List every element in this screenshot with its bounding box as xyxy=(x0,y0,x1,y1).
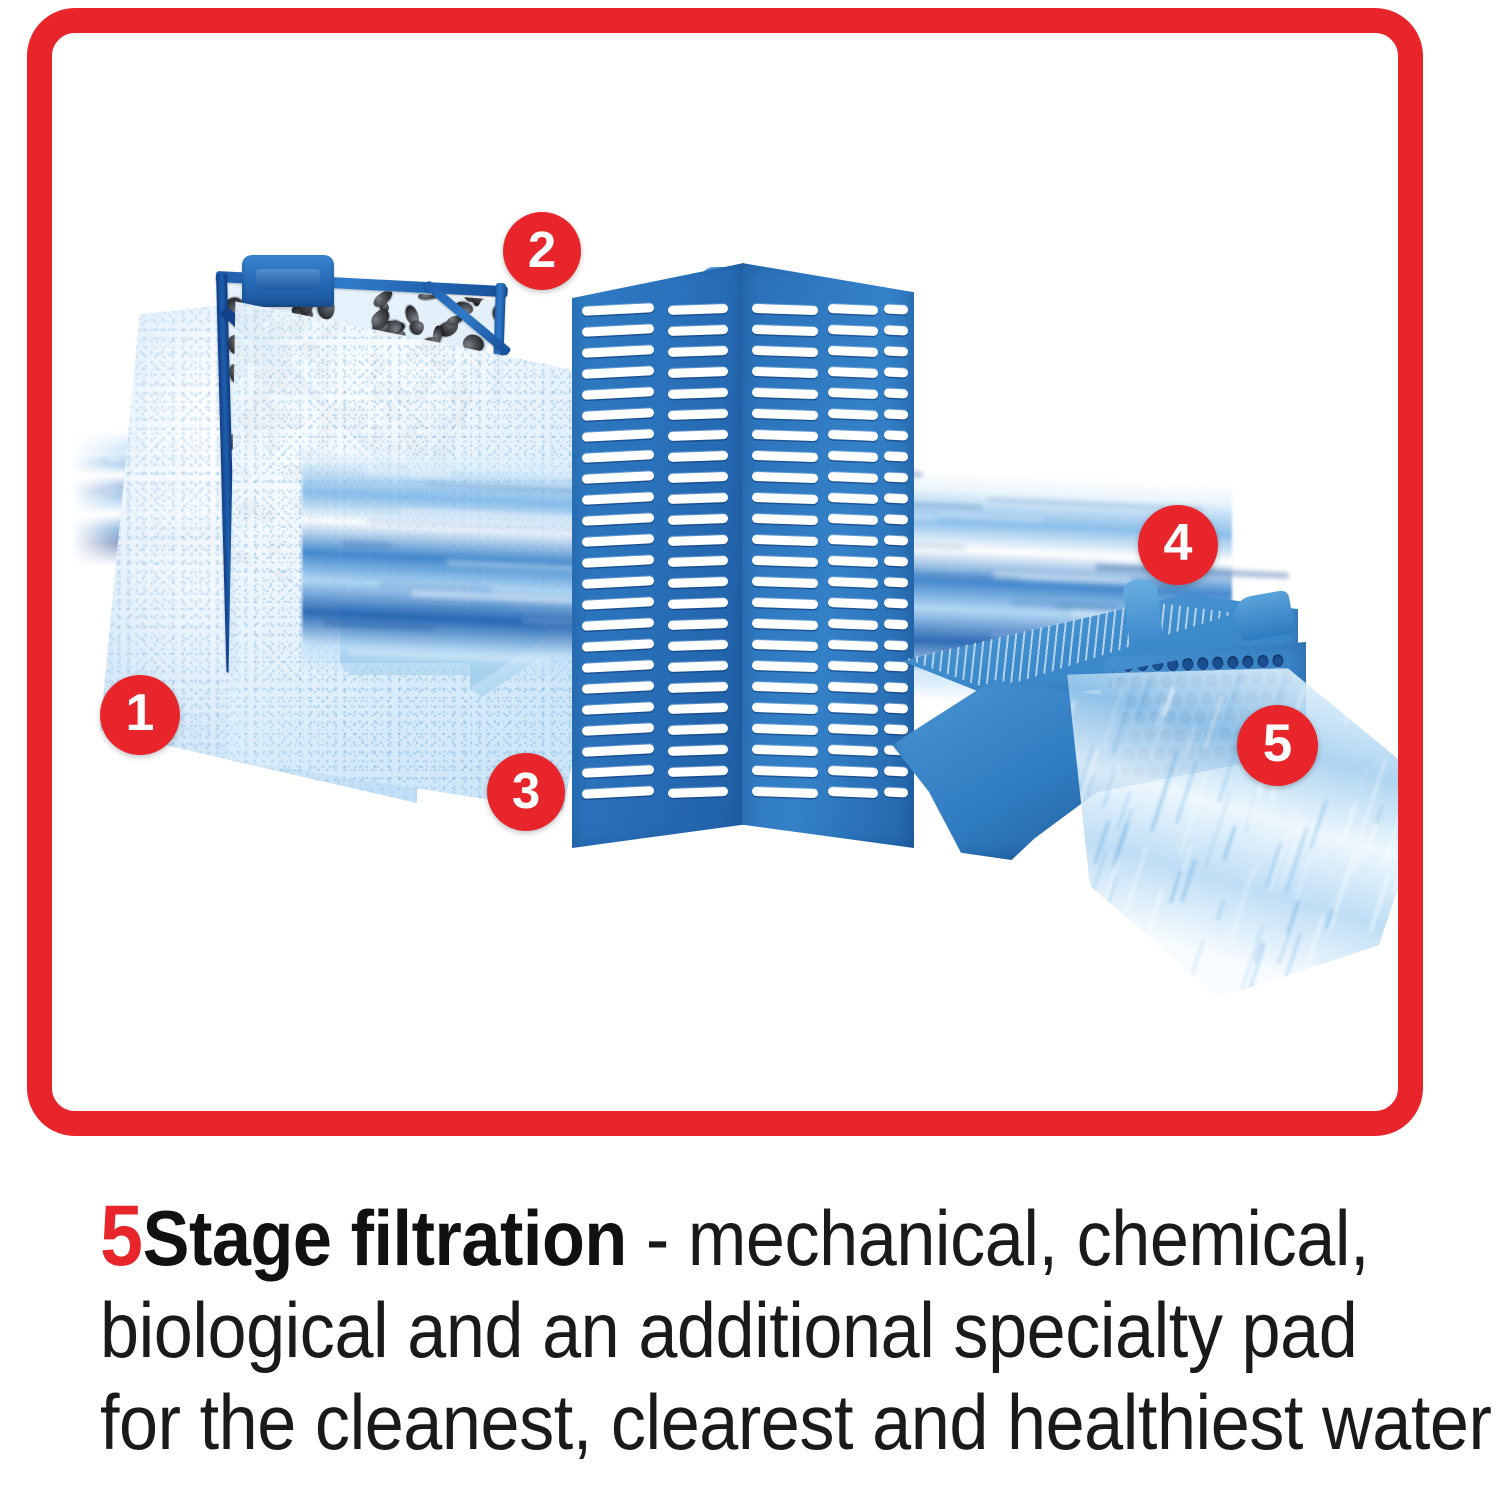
waterfall-streak xyxy=(1367,959,1393,1031)
waterfall-streak xyxy=(1388,927,1398,972)
filtration-diagram: 1 2 3 4 5 xyxy=(52,33,1398,1111)
grid-slot xyxy=(752,409,818,420)
grid-slot xyxy=(884,556,908,566)
grid-slot xyxy=(668,367,728,378)
water-streak xyxy=(349,650,549,663)
grid-slot xyxy=(752,493,818,504)
carbon-granule xyxy=(410,320,425,335)
biological-grid xyxy=(572,263,912,848)
grid-slot xyxy=(752,388,818,399)
grid-slot xyxy=(668,388,728,399)
waterfall-streak xyxy=(1226,961,1241,998)
waterfall-streak xyxy=(1062,948,1087,1016)
waterfall-streak xyxy=(1149,688,1175,759)
cartridge-perforation xyxy=(1227,655,1239,669)
grid-panel-right xyxy=(742,263,914,848)
caption-line-1: 5Stage filtration - mechanical, chemical… xyxy=(100,1190,1333,1284)
grid-slot xyxy=(668,598,728,609)
waterfall-streak xyxy=(1328,848,1358,932)
grid-slot xyxy=(668,766,728,777)
grid-slot xyxy=(668,472,728,483)
grid-slot xyxy=(884,409,908,419)
grid-slot xyxy=(752,472,818,483)
grid-slot xyxy=(582,765,654,778)
grid-slot xyxy=(884,535,908,545)
grid-slot xyxy=(828,514,878,525)
waterfall-streak xyxy=(1101,682,1125,749)
grid-slot xyxy=(828,409,878,420)
grid-slot xyxy=(582,492,654,505)
grid-slot xyxy=(752,535,818,546)
cartridge-perforation xyxy=(1242,655,1254,669)
grid-slot xyxy=(752,325,818,336)
grid-slot xyxy=(668,346,728,357)
grid-slot xyxy=(828,577,878,588)
waterfall-streak xyxy=(1102,768,1118,809)
stage-badge-1-label: 1 xyxy=(126,687,155,739)
waterfall-streak xyxy=(1393,860,1398,893)
grid-slot xyxy=(582,723,654,736)
carbon-cartridge-tab xyxy=(242,255,334,307)
grid-slot xyxy=(752,682,818,693)
waterfall-streak xyxy=(1375,805,1384,824)
waterfall-streak xyxy=(1111,687,1136,755)
grid-slot xyxy=(668,493,728,504)
grid-slot xyxy=(828,598,878,609)
grid-slot xyxy=(582,744,654,757)
grid-slot xyxy=(828,493,878,504)
waterfall-streak xyxy=(1220,673,1242,732)
grid-slot xyxy=(668,325,728,336)
waterfall-streak xyxy=(1328,959,1341,991)
grid-slot xyxy=(884,493,908,503)
grid-slot xyxy=(582,324,654,337)
grid-slot xyxy=(752,430,818,441)
grid-slot xyxy=(828,766,878,777)
stage-badge-4-label: 4 xyxy=(1164,517,1193,569)
grid-slot xyxy=(884,367,908,377)
waterfall-streak xyxy=(1226,868,1255,950)
waterfall-streak xyxy=(1085,937,1101,978)
grid-slot xyxy=(884,304,908,314)
grid-slot xyxy=(828,724,878,735)
water-streak xyxy=(364,468,449,479)
grid-slot xyxy=(828,430,878,441)
grid-slot xyxy=(582,555,654,568)
cartridge-perforation xyxy=(1197,656,1209,670)
grid-slot xyxy=(752,304,818,315)
tab-emboss-mark xyxy=(256,269,320,289)
grid-slot xyxy=(752,745,818,756)
grid-slot xyxy=(668,535,728,546)
grid-slot xyxy=(668,451,728,462)
grid-slot xyxy=(582,681,654,694)
grid-slot xyxy=(828,535,878,546)
caption-stage-number: 5 xyxy=(100,1188,143,1284)
grid-slot xyxy=(582,408,654,421)
waterfall-streak xyxy=(1216,900,1225,921)
grid-slot xyxy=(582,597,654,610)
grid-slot xyxy=(668,703,728,714)
grid-slot xyxy=(884,472,908,482)
grid-slot xyxy=(582,387,654,400)
grid-slot xyxy=(828,640,878,651)
grid-slot xyxy=(828,451,878,462)
grid-slot xyxy=(668,304,728,315)
waterfall-streak xyxy=(1058,904,1071,937)
infographic-page: 1 2 3 4 5 5Stage filtration - mechanical… xyxy=(0,0,1500,1500)
grid-slot xyxy=(828,619,878,630)
grid-slot xyxy=(752,514,818,525)
grid-slot xyxy=(752,346,818,357)
stage-badge-3: 3 xyxy=(487,753,565,831)
grid-slot xyxy=(668,787,728,798)
waterfall-streak xyxy=(1136,679,1152,720)
grid-slot xyxy=(582,345,654,358)
caption-block: 5Stage filtration - mechanical, chemical… xyxy=(100,1190,1470,1468)
grid-slot xyxy=(582,639,654,652)
grid-slot xyxy=(752,619,818,630)
grid-slot xyxy=(582,618,654,631)
cartridge-perforation xyxy=(1272,654,1284,668)
water-streak xyxy=(1063,481,1212,491)
waterfall-streak xyxy=(1185,724,1198,756)
grid-slot xyxy=(752,451,818,462)
grid-slot xyxy=(582,660,654,673)
caption-bold-phrase: Stage filtration xyxy=(143,1194,627,1282)
caption-line-1-rest: - mechanical, chemical, xyxy=(627,1194,1369,1282)
waterfall-streak xyxy=(1355,762,1370,801)
stage-badge-2-label: 2 xyxy=(528,224,556,275)
grid-slot xyxy=(582,513,654,526)
grid-slot xyxy=(752,598,818,609)
grid-slot xyxy=(752,640,818,651)
grid-slot xyxy=(668,409,728,420)
grid-slot xyxy=(828,388,878,399)
waterfall-streak xyxy=(1124,846,1148,910)
grid-slot xyxy=(828,682,878,693)
waterfall-streak xyxy=(1290,968,1312,1027)
water-streak xyxy=(322,449,403,458)
water-streak xyxy=(368,520,582,533)
waterfall-streak xyxy=(1382,787,1398,869)
water-streak xyxy=(342,540,392,548)
caption-line-3: for the cleanest, clearest and healthies… xyxy=(100,1376,1333,1468)
stage-badge-4: 4 xyxy=(1138,505,1218,585)
grid-slot xyxy=(668,745,728,756)
grid-slot xyxy=(668,577,728,588)
grid-slot xyxy=(828,556,878,567)
waterfall-streak xyxy=(1369,875,1390,933)
grid-slot xyxy=(668,640,728,651)
clean-water-outflow xyxy=(1052,668,1398,998)
waterfall-streak xyxy=(1116,809,1133,855)
grid-slot xyxy=(828,787,878,798)
water-streak xyxy=(446,559,592,571)
grid-slot xyxy=(668,514,728,525)
stage-badge-1: 1 xyxy=(100,675,180,755)
water-streak xyxy=(323,621,434,631)
grid-slot xyxy=(828,472,878,483)
stage-badge-2: 2 xyxy=(503,212,581,290)
grid-slot xyxy=(884,451,908,461)
grid-panel-left xyxy=(572,263,744,848)
grid-slot xyxy=(668,682,728,693)
grid-slot xyxy=(668,430,728,441)
grid-slot xyxy=(884,514,908,524)
grid-slot xyxy=(582,429,654,442)
stage-badge-5-label: 5 xyxy=(1263,717,1292,770)
grid-slot xyxy=(582,471,654,484)
stage-badge-3-label: 3 xyxy=(512,765,540,816)
grid-slot xyxy=(828,325,878,336)
grid-slot xyxy=(582,534,654,547)
waterfall-streak xyxy=(1090,912,1106,954)
waterfall-streak xyxy=(1203,695,1223,749)
waterfall-streak xyxy=(1063,954,1089,1028)
grid-slot xyxy=(668,661,728,672)
waterfall-streak xyxy=(1277,933,1288,959)
grid-slot xyxy=(582,450,654,463)
grid-slot xyxy=(752,367,818,378)
grid-slot xyxy=(668,556,728,567)
grid-slot xyxy=(752,703,818,714)
waterfall-streak xyxy=(1344,699,1355,726)
grid-slot xyxy=(828,346,878,357)
grid-slot xyxy=(884,325,908,335)
cartridge-perforation xyxy=(1257,654,1269,668)
grid-slot xyxy=(582,786,654,799)
cartridge-perforation xyxy=(1212,656,1224,670)
grid-slot xyxy=(752,661,818,672)
grid-slot xyxy=(668,724,728,735)
waterfall-streak xyxy=(1396,707,1398,748)
caption-line-2: biological and an additional specialty p… xyxy=(100,1284,1333,1376)
grid-slot xyxy=(582,303,654,316)
grid-slot xyxy=(828,703,878,714)
waterfall-streak xyxy=(1136,890,1164,967)
grid-slot xyxy=(884,388,908,398)
grid-slot xyxy=(582,702,654,715)
grid-slot xyxy=(828,745,878,756)
grid-slot xyxy=(828,661,878,672)
grid-slot xyxy=(884,430,908,440)
grid-slot xyxy=(668,619,728,630)
water-streak xyxy=(937,514,1044,522)
grid-slot xyxy=(752,724,818,735)
grid-slot xyxy=(828,304,878,315)
waterfall-streak xyxy=(1277,933,1302,1002)
waterfall-streak xyxy=(1204,792,1232,869)
grid-slot xyxy=(752,577,818,588)
waterfall-streak xyxy=(1150,750,1179,831)
grid-slot xyxy=(752,766,818,777)
stage-badge-5: 5 xyxy=(1237,705,1318,786)
cartridge-post xyxy=(1122,578,1164,648)
waterfall-streak xyxy=(1179,771,1209,855)
grid-slot xyxy=(582,366,654,379)
waterfall-streak xyxy=(1223,826,1237,861)
grid-slot xyxy=(752,787,818,798)
grid-slot xyxy=(884,346,908,356)
grid-slot xyxy=(582,576,654,589)
grid-slot xyxy=(752,556,818,567)
grid-slot xyxy=(828,367,878,378)
waterfall-streak xyxy=(1157,934,1170,965)
waterfall-streak xyxy=(1298,914,1325,990)
